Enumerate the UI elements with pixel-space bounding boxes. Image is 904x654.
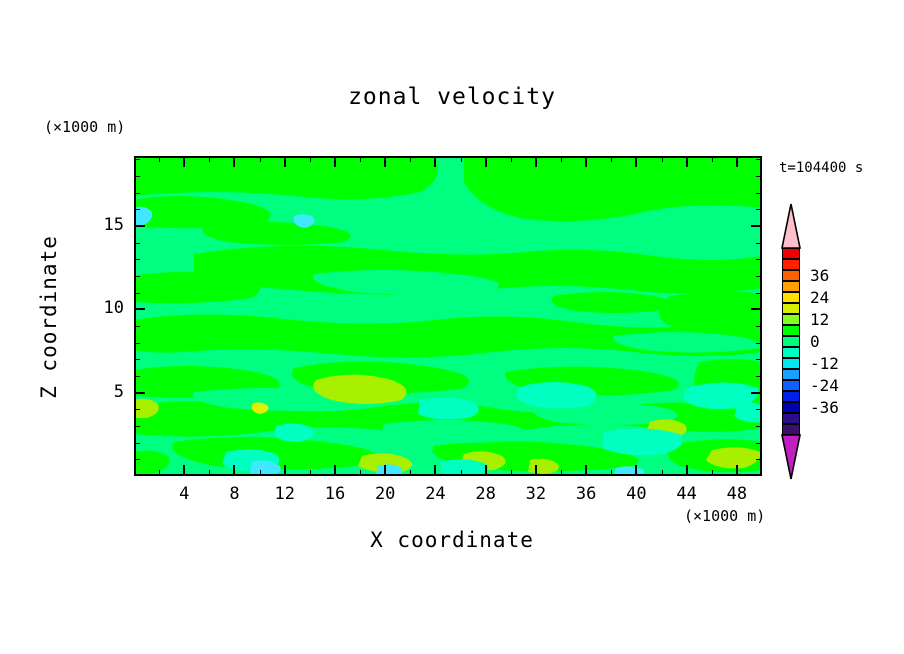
y-axis-minor-tick-right [756, 193, 762, 194]
y-axis-major-tick-right [751, 225, 762, 227]
x-axis-major-tick-top [635, 156, 637, 167]
y-axis-minor-tick [134, 409, 140, 410]
x-axis-tick-label: 20 [359, 484, 411, 504]
y-axis-minor-tick-right [756, 243, 762, 244]
y-axis-minor-tick [134, 459, 140, 460]
x-axis-major-tick-top [485, 156, 487, 167]
y-axis-minor-tick-right [756, 426, 762, 427]
x-axis-major-tick [384, 465, 386, 476]
x-axis-tick-label: 48 [711, 484, 763, 504]
y-axis-minor-tick-right [756, 259, 762, 260]
colorbar-band [782, 314, 800, 325]
x-axis-label: X coordinate [0, 528, 904, 552]
x-axis-tick-label: 36 [560, 484, 612, 504]
y-axis-minor-tick [134, 293, 140, 294]
x-axis-tick-label: 24 [409, 484, 461, 504]
x-axis-units: (×1000 m) [684, 507, 765, 525]
colorbar-band [782, 380, 800, 391]
y-axis-minor-tick [134, 159, 140, 160]
colorbar-band [782, 358, 800, 369]
x-axis-minor-tick [662, 470, 663, 476]
x-axis-tick-label: 32 [510, 484, 562, 504]
colorbar-tick-label: -12 [810, 354, 839, 373]
y-axis-minor-tick-right [756, 409, 762, 410]
y-axis-minor-tick [134, 343, 140, 344]
x-axis-minor-tick-top [310, 156, 311, 162]
x-axis-minor-tick [712, 470, 713, 476]
colorbar-tick-label: 12 [810, 310, 829, 329]
colorbar-band [782, 336, 800, 347]
x-axis-tick-label: 12 [259, 484, 311, 504]
colorbar-band [782, 391, 800, 402]
x-axis-major-tick-top [233, 156, 235, 167]
colorbar-band [782, 303, 800, 314]
x-axis-minor-tick-top [561, 156, 562, 162]
x-axis-minor-tick-top [662, 156, 663, 162]
x-axis-minor-tick [561, 470, 562, 476]
x-axis-minor-tick [360, 470, 361, 476]
plot-area: t=104400 s [134, 156, 762, 476]
x-axis-minor-tick [159, 470, 160, 476]
colorbar-band [782, 270, 800, 281]
x-axis-major-tick [535, 465, 537, 476]
x-axis-minor-tick [611, 470, 612, 476]
y-axis-minor-tick-right [756, 376, 762, 377]
y-axis-major-tick-right [751, 392, 762, 394]
x-axis-major-tick-top [535, 156, 537, 167]
colorbar-band [782, 248, 800, 259]
colorbar-band [782, 281, 800, 292]
y-axis-minor-tick [134, 276, 140, 277]
colorbar-band [782, 292, 800, 303]
x-axis-major-tick [334, 465, 336, 476]
y-axis-major-tick [134, 308, 145, 310]
colorbar-band [782, 402, 800, 413]
y-axis-minor-tick [134, 326, 140, 327]
x-axis-major-tick-top [284, 156, 286, 167]
y-axis-minor-tick-right [756, 293, 762, 294]
y-axis-minor-tick-right [756, 443, 762, 444]
x-axis-major-tick [736, 465, 738, 476]
x-axis-major-tick-top [334, 156, 336, 167]
x-axis-major-tick [233, 465, 235, 476]
x-axis-minor-tick-top [209, 156, 210, 162]
y-axis-minor-tick [134, 426, 140, 427]
x-axis-major-tick-top [736, 156, 738, 167]
x-axis-minor-tick-top [712, 156, 713, 162]
colorbar-band [782, 325, 800, 336]
colorbar-band [782, 413, 800, 424]
y-axis-minor-tick [134, 243, 140, 244]
y-axis-minor-tick [134, 376, 140, 377]
y-axis-minor-tick-right [756, 326, 762, 327]
x-axis-minor-tick-top [260, 156, 261, 162]
colorbar-tick-label: 24 [810, 288, 829, 307]
x-axis-major-tick-top [585, 156, 587, 167]
x-axis-minor-tick [209, 470, 210, 476]
y-axis-minor-tick [134, 259, 140, 260]
x-axis-minor-tick-top [611, 156, 612, 162]
y-axis-tick-label: 5 [78, 382, 124, 402]
y-axis-minor-tick-right [756, 359, 762, 360]
contour-field [134, 156, 762, 476]
x-axis-major-tick [635, 465, 637, 476]
x-axis-tick-label: 40 [610, 484, 662, 504]
y-axis-minor-tick-right [756, 209, 762, 210]
y-axis-major-tick-right [751, 308, 762, 310]
y-axis-units: (×1000 m) [44, 118, 125, 136]
y-axis-minor-tick-right [756, 459, 762, 460]
x-axis-major-tick [686, 465, 688, 476]
x-axis-major-tick-top [384, 156, 386, 167]
x-axis-major-tick [284, 465, 286, 476]
y-axis-tick-label: 10 [78, 298, 124, 318]
x-axis-minor-tick [511, 470, 512, 476]
colorbar-tick-label: 0 [810, 332, 820, 351]
y-axis-tick-label: 15 [78, 215, 124, 235]
x-axis-minor-tick [461, 470, 462, 476]
y-axis-minor-tick-right [756, 343, 762, 344]
figure-canvas: zonal velocity (×1000 m) (×1000 m) X coo… [0, 0, 904, 654]
x-axis-minor-tick-top [410, 156, 411, 162]
colorbar-band [782, 347, 800, 358]
y-axis-minor-tick-right [756, 159, 762, 160]
x-axis-minor-tick-top [461, 156, 462, 162]
x-axis-major-tick [585, 465, 587, 476]
x-axis-major-tick-top [183, 156, 185, 167]
colorbar-tick-label: -36 [810, 398, 839, 417]
y-axis-minor-tick-right [756, 176, 762, 177]
colorbar-band [782, 369, 800, 380]
x-axis-tick-label: 4 [158, 484, 210, 504]
x-axis-major-tick [434, 465, 436, 476]
x-axis-tick-label: 28 [460, 484, 512, 504]
y-axis-minor-tick [134, 443, 140, 444]
x-axis-major-tick [183, 465, 185, 476]
x-axis-major-tick-top [434, 156, 436, 167]
y-axis-minor-tick [134, 359, 140, 360]
y-axis-label: Z coordinate [37, 232, 61, 402]
x-axis-minor-tick [410, 470, 411, 476]
x-axis-major-tick [485, 465, 487, 476]
y-axis-major-tick [134, 392, 145, 394]
x-axis-minor-tick-top [360, 156, 361, 162]
x-axis-tick-label: 16 [309, 484, 361, 504]
x-axis-tick-label: 44 [661, 484, 713, 504]
y-axis-minor-tick [134, 209, 140, 210]
x-axis-minor-tick [310, 470, 311, 476]
x-axis-tick-label: 8 [208, 484, 260, 504]
chart-title: zonal velocity [0, 84, 904, 110]
x-axis-minor-tick-top [159, 156, 160, 162]
y-axis-major-tick [134, 225, 145, 227]
colorbar-band [782, 424, 800, 435]
x-axis-minor-tick [260, 470, 261, 476]
time-annotation: t=104400 s [779, 160, 863, 176]
colorbar-band [782, 259, 800, 270]
y-axis-minor-tick [134, 176, 140, 177]
colorbar-tick-label: 36 [810, 266, 829, 285]
y-axis-minor-tick [134, 193, 140, 194]
x-axis-minor-tick-top [511, 156, 512, 162]
x-axis-major-tick-top [686, 156, 688, 167]
y-axis-minor-tick-right [756, 276, 762, 277]
colorbar-tick-label: -24 [810, 376, 839, 395]
